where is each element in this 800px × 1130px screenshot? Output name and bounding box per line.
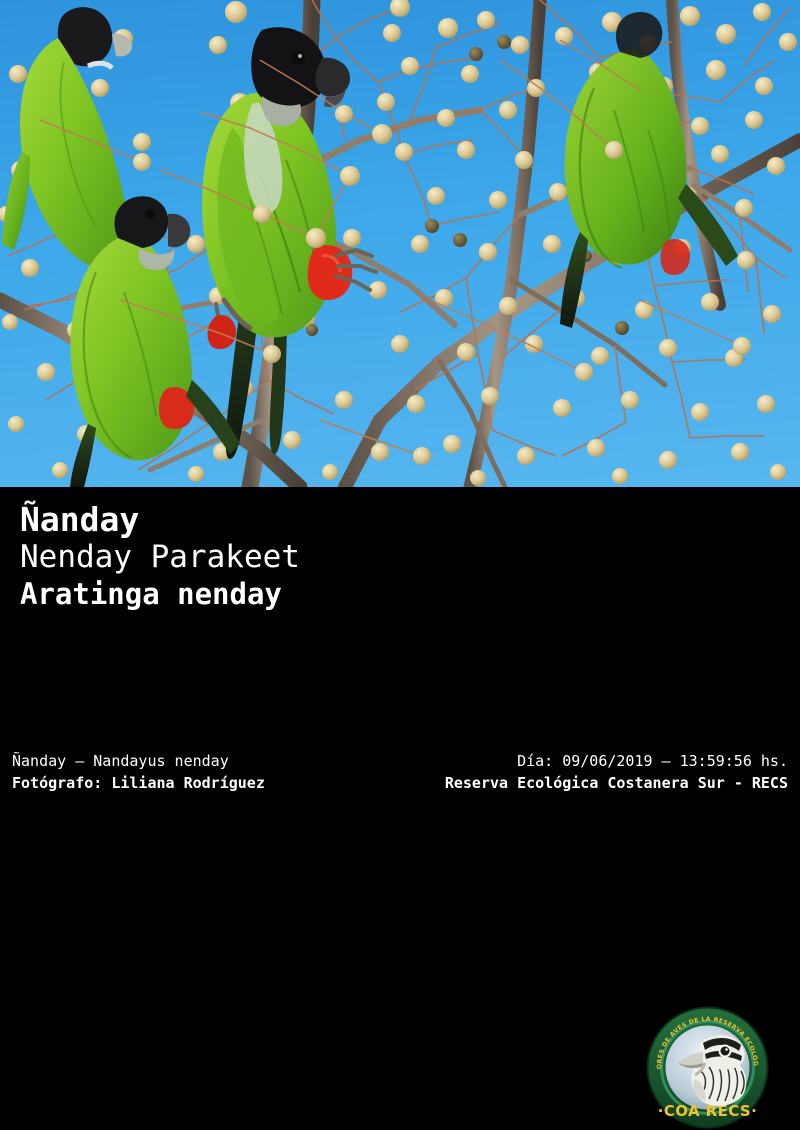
common-name-spanish: Ñanday	[20, 501, 300, 539]
logo-badge: CLUB DE OBSERVADORES DE AVES DE LA RESER…	[645, 1005, 770, 1130]
footer-metadata: Ñanday — Nandayus nenday Fotógrafo: Lili…	[0, 744, 800, 800]
photograph	[0, 0, 800, 487]
footer-species-line: Ñanday — Nandayus nenday	[12, 750, 265, 772]
footer-photographer: Fotógrafo: Liliana Rodríguez	[12, 772, 265, 794]
footer-location: Reserva Ecológica Costanera Sur - RECS	[445, 772, 788, 794]
logo-bottom-text: ·COA RECS·	[658, 1102, 757, 1120]
photo-illustration	[0, 0, 800, 487]
common-name-english: Nenday Parakeet	[20, 539, 300, 576]
footer-right: Día: 09/06/2019 — 13:59:56 hs. Reserva E…	[445, 750, 788, 794]
footer-datetime: Día: 09/06/2019 — 13:59:56 hs.	[445, 750, 788, 772]
footer-left: Ñanday — Nandayus nenday Fotógrafo: Lili…	[12, 750, 265, 794]
scientific-name: Aratinga nenday	[20, 576, 300, 612]
species-title-block: Ñanday Nenday Parakeet Aratinga nenday	[20, 501, 300, 612]
coa-recs-logo: CLUB DE OBSERVADORES DE AVES DE LA RESER…	[645, 1005, 770, 1130]
